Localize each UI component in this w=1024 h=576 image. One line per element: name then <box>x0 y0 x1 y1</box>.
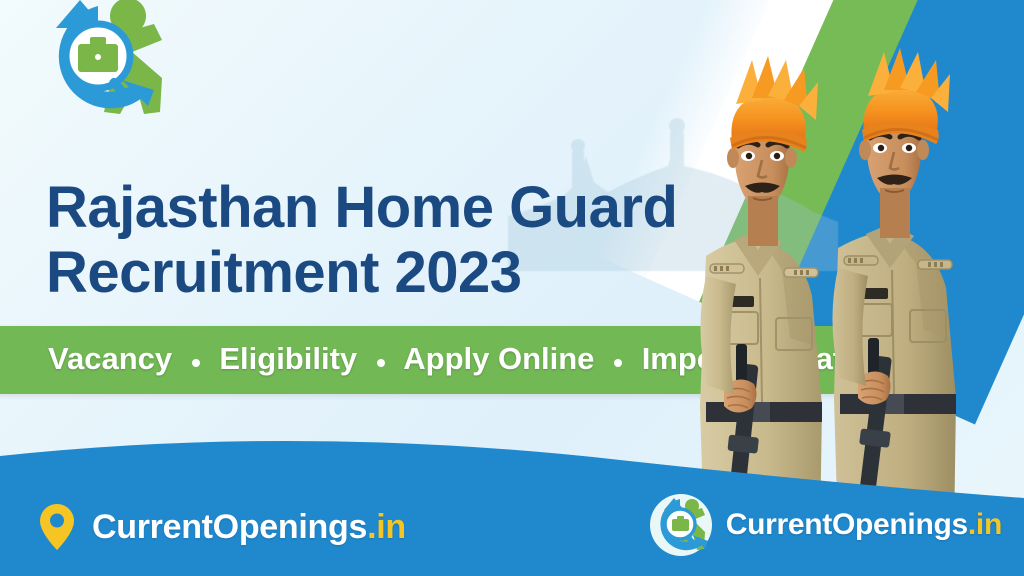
headline-line-2: Recruitment 2023 <box>46 241 736 306</box>
bullet-separator-icon <box>192 343 200 379</box>
bullet-separator-icon <box>377 343 385 379</box>
footer-brand-right-text: CurrentOpenings.in <box>726 508 1002 542</box>
currentopenings-logo-icon <box>648 492 714 558</box>
turban-icon <box>862 48 950 144</box>
page-title: Rajasthan Home Guard Recruitment 2023 <box>46 176 736 306</box>
footer-brand-text: CurrentOpenings.in <box>92 508 406 547</box>
footer-brand-right[interactable]: CurrentOpenings.in <box>648 492 1002 558</box>
turban-icon <box>730 56 818 152</box>
map-pin-icon <box>40 504 74 550</box>
currentopenings-logo-icon <box>12 0 180 126</box>
headline-line-1: Rajasthan Home Guard <box>46 175 677 240</box>
bullet-separator-icon <box>614 343 622 379</box>
footer-brand-left[interactable]: CurrentOpenings.in <box>40 504 406 550</box>
footer-brand-name: CurrentOpenings <box>726 508 968 541</box>
brand-name: CurrentOpenings <box>92 508 367 546</box>
band-item-eligibility: Eligibility <box>219 341 357 376</box>
poster-canvas: Rajasthan Home Guard Recruitment 2023 Va… <box>0 0 1024 576</box>
brand-tld: .in <box>367 508 406 546</box>
band-item-apply-online: Apply Online <box>403 341 594 376</box>
band-item-vacancy: Vacancy <box>48 341 172 376</box>
footer-brand-tld: .in <box>968 508 1002 541</box>
